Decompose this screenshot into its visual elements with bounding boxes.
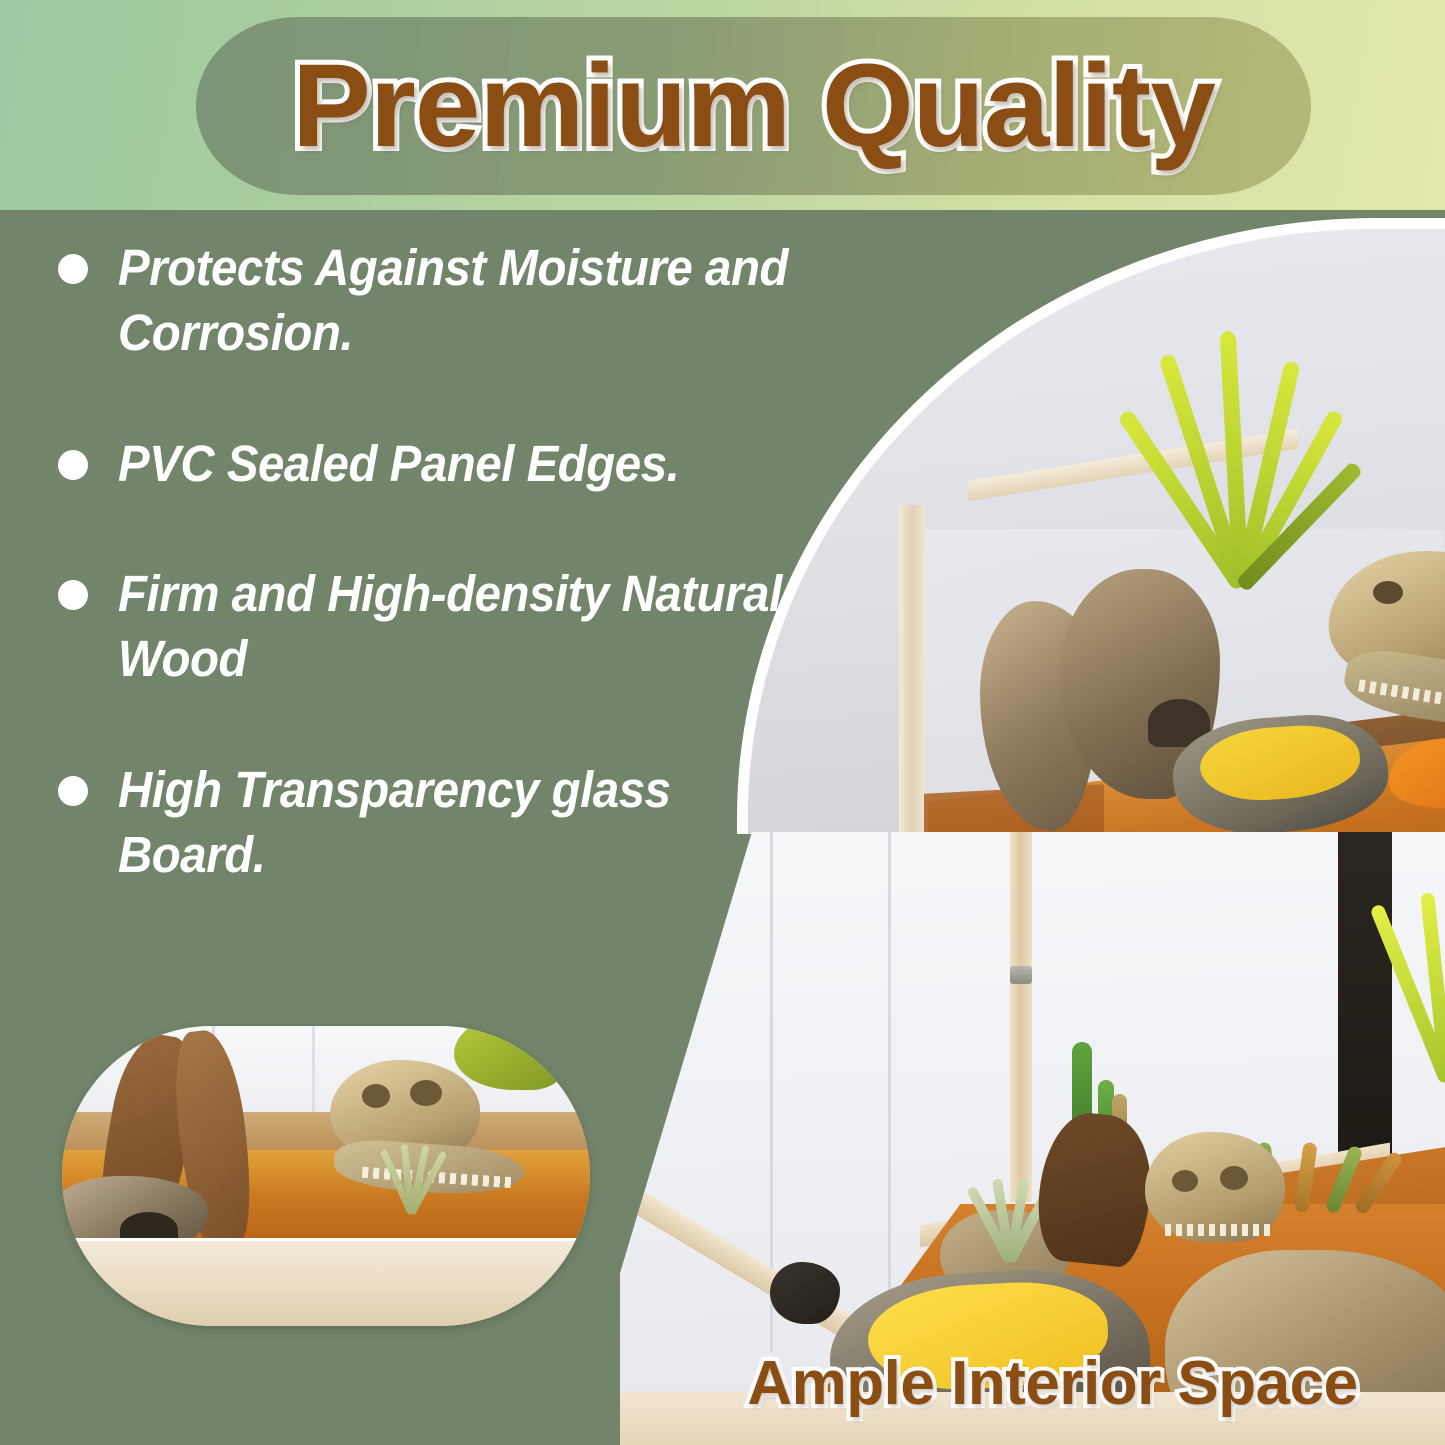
photo-arc-frame bbox=[737, 218, 1445, 834]
list-item: Protects Against Moisture and Corrosion. bbox=[58, 236, 848, 366]
list-item: High Transparency glass Board. bbox=[58, 758, 848, 888]
list-item: Firm and High-density Natural Wood bbox=[58, 562, 848, 692]
skull-eye-socket bbox=[362, 1084, 390, 1108]
list-item: PVC Sealed Panel Edges. bbox=[58, 432, 848, 497]
skull-eye-socket bbox=[1220, 1166, 1248, 1190]
door-hinge-icon bbox=[1010, 966, 1032, 984]
infographic-canvas: Premium Quality Protects Against Moistur… bbox=[0, 0, 1445, 1445]
dark-rock-small bbox=[770, 1262, 840, 1324]
feature-bullet-list: Protects Against Moisture and Corrosion.… bbox=[58, 236, 848, 953]
skull-eye-socket bbox=[1172, 1170, 1198, 1192]
terrarium-angled-view-photo bbox=[737, 218, 1445, 834]
fern-plant-icon bbox=[1380, 832, 1445, 1082]
glass-seam bbox=[888, 832, 891, 1352]
wood-base-front bbox=[62, 1238, 590, 1326]
bullet-label: High Transparency glass Board. bbox=[118, 758, 797, 888]
header-band: Premium Quality bbox=[0, 0, 1445, 212]
glass-seam bbox=[312, 1026, 315, 1118]
bullet-label: Protects Against Moisture and Corrosion. bbox=[118, 236, 797, 366]
skull-teeth bbox=[1165, 1224, 1273, 1236]
bullet-dot-icon bbox=[58, 254, 88, 284]
bullet-dot-icon bbox=[58, 580, 88, 610]
bullet-label: PVC Sealed Panel Edges. bbox=[118, 432, 679, 497]
bottom-caption: Ample Interior Space bbox=[660, 1338, 1445, 1428]
terrarium-interior-closeup-oval-photo bbox=[62, 1026, 590, 1326]
page-title: Premium Quality bbox=[196, 17, 1311, 195]
bullet-label: Firm and High-density Natural Wood bbox=[118, 562, 797, 692]
bullet-dot-icon bbox=[58, 776, 88, 806]
wood-corner-post bbox=[1010, 832, 1032, 1202]
skull-eye-socket bbox=[1373, 581, 1403, 604]
skull-eye-socket bbox=[410, 1080, 442, 1106]
fern-plant-icon bbox=[1108, 247, 1358, 587]
grass-plant-icon bbox=[378, 1124, 438, 1214]
aloe-plant-icon bbox=[960, 1152, 1050, 1262]
bullet-dot-icon bbox=[58, 450, 88, 480]
wood-corner-post bbox=[899, 505, 925, 834]
